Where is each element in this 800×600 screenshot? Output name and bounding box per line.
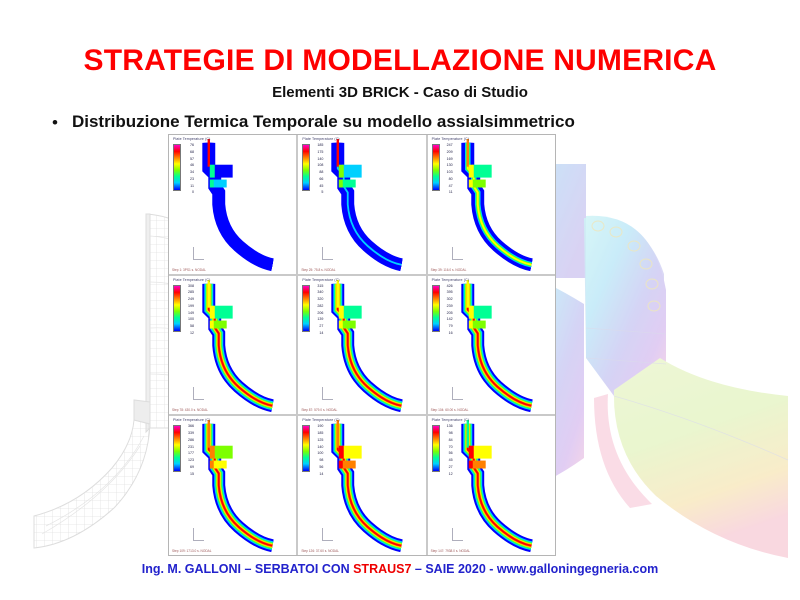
contour-panel[interactable]: Plate Temperature (C)3153403202822061392…: [298, 276, 425, 415]
contour-panel[interactable]: Plate Temperature (C)4263953022392051427…: [428, 276, 555, 415]
legend-tick-value: 136: [442, 425, 453, 429]
legend-tick-value: 23: [183, 178, 194, 182]
flange-block: [468, 180, 472, 188]
contour-panel[interactable]: Plate Temperature (C)766857463423110Step…: [169, 135, 296, 274]
flange-block: [342, 461, 356, 469]
color-legend-bar: [432, 144, 440, 191]
flange-block: [210, 180, 214, 188]
legend-tick-value: 56: [442, 452, 453, 456]
color-legend-bar: [173, 425, 181, 472]
legend-tick-value: 140: [312, 158, 323, 162]
legend-tick-value: 98: [442, 432, 453, 436]
legend-tick-value: 70: [442, 446, 453, 450]
legend-tick-value: 84: [442, 439, 453, 443]
legend-tick-value: 108: [312, 164, 323, 168]
legend-tick-value: 16: [442, 332, 453, 336]
footer-accent: STRAUS7: [353, 562, 411, 576]
legend-tick-value: 68: [183, 151, 194, 155]
flange-block: [468, 165, 473, 178]
panel-status-text: Step 109: 1713.0 s. NODAL: [172, 549, 212, 553]
color-legend: 3663392862311771236915: [173, 425, 194, 476]
flange-block: [471, 180, 485, 188]
contour-panel[interactable]: Plate Temperature (C)3663392862311771236…: [169, 416, 296, 555]
legend-tick-value: 185: [312, 144, 323, 148]
legend-tick-value: 103: [442, 171, 453, 175]
legend-tick-value: 315: [312, 285, 323, 289]
flange-block: [342, 320, 356, 328]
axis-triad-icon: [452, 387, 463, 400]
legend-tick-value: 98: [312, 459, 323, 463]
legend-tick-value: 14: [312, 332, 323, 336]
legend-tick-value: 66: [312, 178, 323, 182]
footer-part2: – SAIE 2020 - www.galloningegneria.com: [411, 562, 658, 576]
contour-panel-grid: Plate Temperature (C)766857463423110Step…: [168, 134, 556, 556]
legend-tick-value: 47: [442, 185, 453, 189]
panel-legend-title: Plate Temperature (C): [432, 137, 469, 141]
flange-block: [210, 305, 215, 318]
color-legend: 3082852491991491005812: [173, 285, 194, 336]
color-legend-bar: [302, 425, 310, 472]
flange-block: [339, 446, 344, 459]
legend-tick-value: 100: [312, 452, 323, 456]
flange-block: [210, 461, 214, 469]
legend-tick-value: 14: [312, 473, 323, 477]
legend-tick-value: 231: [183, 446, 194, 450]
legend-tick-value: 12: [183, 332, 194, 336]
contour-shaded-vessel-head-icon: [548, 158, 800, 558]
page-title: STRATEGIE DI MODELLAZIONE NUMERICA: [0, 44, 800, 78]
legend-tick-value: 5: [312, 191, 323, 195]
panel-status-text: Step 39: 116.0 s. NODAL: [431, 268, 467, 272]
color-legend: 1851751401088866455: [302, 144, 323, 195]
legend-tick-value: 185: [312, 432, 323, 436]
legend-tick-value: 142: [442, 318, 453, 322]
bullet-text: Distribuzione Termica Temporale su model…: [72, 112, 575, 132]
panel-status-text: Step 147: 7938.0 s. NODAL: [431, 549, 471, 553]
flange-block: [210, 446, 215, 459]
flange-block: [468, 446, 473, 459]
legend-tick-value: 366: [183, 425, 194, 429]
panel-legend-title: Plate Temperature (C): [432, 418, 469, 422]
flange-block: [468, 320, 472, 328]
panel-legend-title: Plate Temperature (C): [302, 278, 339, 282]
legend-tick-value: 27: [442, 466, 453, 470]
legend-tick-value: 46: [183, 164, 194, 168]
contour-panel[interactable]: Plate Temperature (C)3082852491991491005…: [169, 276, 296, 415]
panel-legend-title: Plate Temperature (C): [302, 418, 339, 422]
panel-status-text: Step 87: 579.0 s. NODAL: [301, 408, 337, 412]
legend-tick-value: 149: [183, 312, 194, 316]
legend-tick-value: 199: [183, 305, 194, 309]
flange-block: [210, 320, 214, 328]
legend-tick-value: 100: [183, 318, 194, 322]
color-legend: 3153403202822061392714: [302, 285, 323, 336]
bullet-marker-icon: •: [52, 113, 58, 133]
flange-block: [213, 461, 227, 469]
axis-triad-icon: [452, 528, 463, 541]
color-legend-values: 1851751401088866455: [312, 144, 323, 195]
legend-tick-value: 123: [183, 459, 194, 463]
legend-tick-value: 286: [183, 439, 194, 443]
legend-tick-value: 320: [312, 298, 323, 302]
legend-tick-value: 239: [442, 305, 453, 309]
legend-tick-value: 139: [312, 318, 323, 322]
axis-triad-icon: [193, 247, 204, 260]
color-legend-bar: [173, 144, 181, 191]
color-legend: 247209169130103804711: [432, 144, 453, 195]
legend-tick-value: 190: [312, 425, 323, 429]
color-legend-values: 13698847056452712: [442, 425, 453, 476]
legend-tick-value: 340: [312, 291, 323, 295]
legend-tick-value: 57: [183, 158, 194, 162]
color-legend: 190185125140100985614: [302, 425, 323, 476]
legend-tick-value: 11: [183, 185, 194, 189]
color-legend-bar: [432, 425, 440, 472]
legend-tick-value: 69: [183, 466, 194, 470]
legend-tick-value: 285: [183, 291, 194, 295]
legend-tick-value: 339: [183, 432, 194, 436]
color-legend-bar: [173, 285, 181, 332]
flange-block: [342, 446, 362, 459]
color-legend-bar: [302, 144, 310, 191]
flange-block: [339, 461, 343, 469]
legend-tick-value: 426: [442, 285, 453, 289]
legend-tick-value: 56: [312, 466, 323, 470]
page-subtitle: Elementi 3D BRICK - Caso di Studio: [0, 84, 800, 101]
legend-tick-value: 209: [442, 151, 453, 155]
color-legend-values: 3082852491991491005812: [183, 285, 194, 336]
legend-tick-value: 12: [442, 473, 453, 477]
flange-block: [342, 305, 362, 318]
flange-block: [342, 165, 362, 178]
legend-tick-value: 249: [183, 298, 194, 302]
flange-block: [213, 320, 227, 328]
legend-tick-value: 247: [442, 144, 453, 148]
contour-panel[interactable]: Plate Temperature (C)13698847056452712St…: [428, 416, 555, 555]
legend-tick-value: 45: [312, 185, 323, 189]
flange-block: [339, 320, 343, 328]
color-legend-bar: [432, 285, 440, 332]
flange-block: [471, 305, 491, 318]
flange-block: [213, 165, 233, 178]
legend-tick-value: 206: [312, 312, 323, 316]
slide-canvas: STRATEGIE DI MODELLAZIONE NUMERICA Eleme…: [0, 0, 800, 600]
legend-tick-value: 175: [312, 151, 323, 155]
color-legend-values: 190185125140100985614: [312, 425, 323, 476]
panel-status-text: Step 1: 3PS1 s. NODAL: [172, 268, 206, 272]
footer-part1: Ing. M. GALLONI – SERBATOI CON: [142, 562, 353, 576]
color-legend-values: 766857463423110: [183, 144, 194, 195]
axis-triad-icon: [322, 247, 333, 260]
panel-status-text: Step 104: 60.00 s. NODAL: [431, 408, 469, 412]
contour-panel[interactable]: Plate Temperature (C)2472091691301038047…: [428, 135, 555, 274]
legend-tick-value: 395: [442, 291, 453, 295]
flange-block: [342, 180, 356, 188]
legend-tick-value: 169: [442, 158, 453, 162]
panel-status-text: Step 78: 430.0 s. NODAL: [172, 408, 208, 412]
bullet-line: • Distribuzione Termica Temporale su mod…: [52, 112, 752, 133]
color-legend-bar: [302, 285, 310, 332]
axis-triad-icon: [452, 247, 463, 260]
contour-panel[interactable]: Plate Temperature (C)1851751401088866455…: [298, 135, 425, 274]
flange-block: [213, 446, 233, 459]
flange-block: [339, 180, 343, 188]
legend-tick-value: 302: [442, 298, 453, 302]
flange-block: [210, 165, 215, 178]
legend-tick-value: 0: [183, 191, 194, 195]
axis-triad-icon: [193, 387, 204, 400]
color-legend: 13698847056452712: [432, 425, 453, 476]
legend-tick-value: 34: [183, 171, 194, 175]
flange-block: [471, 461, 485, 469]
flange-block: [213, 305, 233, 318]
legend-tick-value: 11: [442, 191, 453, 195]
panel-legend-title: Plate Temperature (C): [302, 137, 339, 141]
legend-tick-value: 76: [183, 144, 194, 148]
panel-legend-title: Plate Temperature (C): [432, 278, 469, 282]
legend-tick-value: 125: [312, 439, 323, 443]
panel-status-text: Step 25: 75.8 s. NODAL: [301, 268, 335, 272]
legend-tick-value: 45: [442, 459, 453, 463]
axis-triad-icon: [322, 387, 333, 400]
legend-tick-value: 205: [442, 312, 453, 316]
panel-legend-title: Plate Temperature (C): [173, 418, 210, 422]
contour-panel[interactable]: Plate Temperature (C)1901851251401009856…: [298, 416, 425, 555]
legend-tick-value: 79: [442, 325, 453, 329]
panel-status-text: Step 126: 37.60 s. NODAL: [301, 549, 339, 553]
flange-block: [468, 461, 472, 469]
axis-triad-icon: [322, 528, 333, 541]
legend-tick-value: 58: [183, 325, 194, 329]
color-legend-values: 3153403202822061392714: [312, 285, 323, 336]
color-legend-values: 247209169130103804711: [442, 144, 453, 195]
legend-tick-value: 80: [442, 178, 453, 182]
flange-block: [339, 165, 344, 178]
panel-legend-title: Plate Temperature (C): [173, 137, 210, 141]
legend-tick-value: 15: [183, 473, 194, 477]
flange-block: [213, 180, 227, 188]
legend-tick-value: 308: [183, 285, 194, 289]
color-legend-values: 4263953022392051427916: [442, 285, 453, 336]
legend-tick-value: 27: [312, 325, 323, 329]
flange-block: [471, 320, 485, 328]
color-legend: 4263953022392051427916: [432, 285, 453, 336]
flange-block: [471, 446, 491, 459]
flange-block: [471, 165, 491, 178]
flange-block: [468, 305, 473, 318]
legend-tick-value: 88: [312, 171, 323, 175]
legend-tick-value: 282: [312, 305, 323, 309]
color-legend: 766857463423110: [173, 144, 194, 195]
legend-tick-value: 177: [183, 452, 194, 456]
flange-block: [339, 305, 344, 318]
color-legend-values: 3663392862311771236915: [183, 425, 194, 476]
footer-credit: Ing. M. GALLONI – SERBATOI CON STRAUS7 –…: [0, 562, 800, 576]
legend-tick-value: 130: [442, 164, 453, 168]
axis-triad-icon: [193, 528, 204, 541]
legend-tick-value: 140: [312, 446, 323, 450]
panel-legend-title: Plate Temperature (C): [173, 278, 210, 282]
